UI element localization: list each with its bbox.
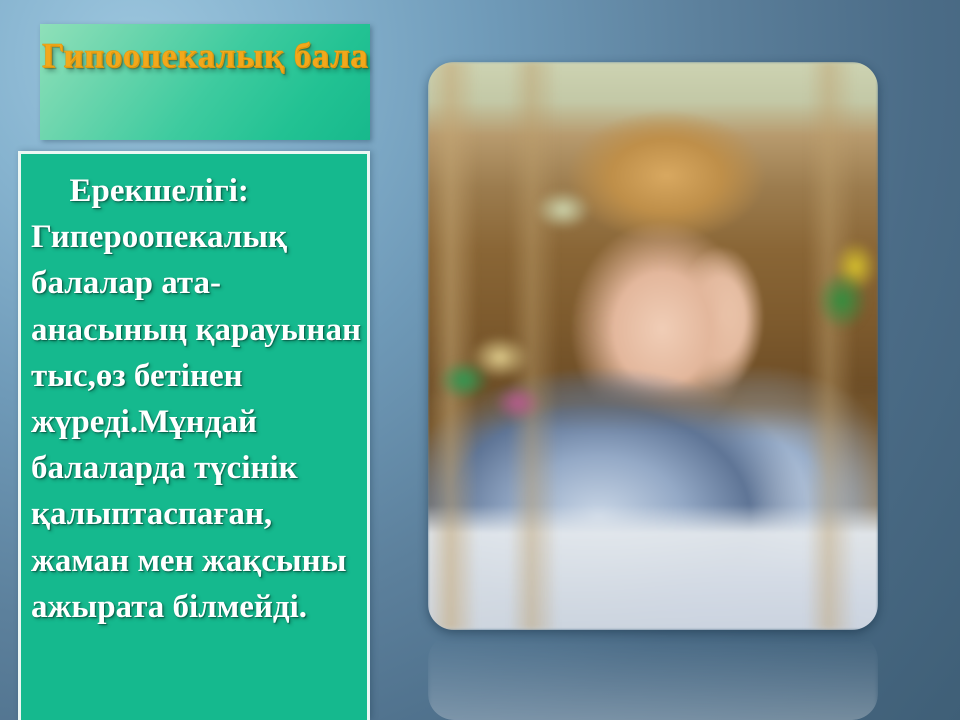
photo-reflection [428, 634, 878, 720]
slide-title: Гипоопекалық бала [40, 36, 370, 76]
photo-frame [428, 62, 878, 630]
presentation-slide: Гипоопекалық бала Ерекшелігі: Гипероопек… [0, 0, 960, 720]
title-box: Гипоопекалық бала [40, 24, 370, 140]
photo-reflection-inner [428, 634, 878, 720]
body-paragraph: Ерекшелігі: Гипероопекалық балалар ата-а… [31, 168, 361, 630]
photo-background-objects [428, 62, 878, 630]
content-text-box: Ерекшелігі: Гипероопекалық балалар ата-а… [18, 151, 370, 720]
